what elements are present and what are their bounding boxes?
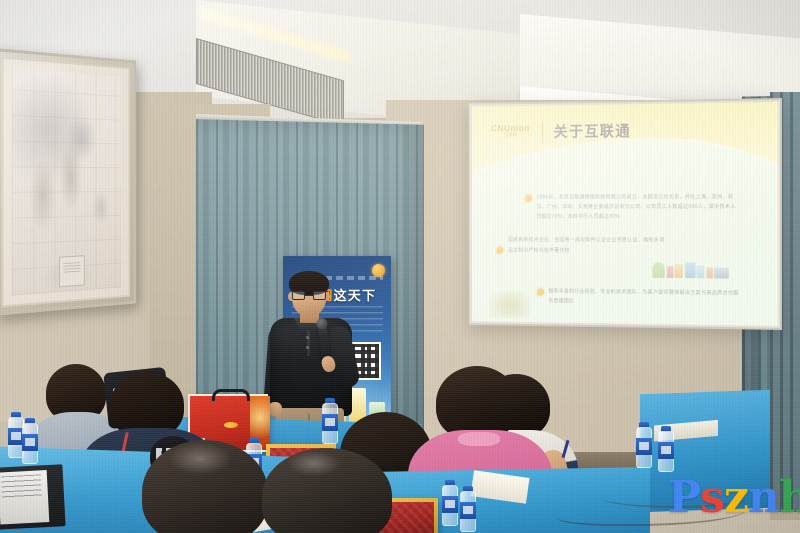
bullet-marker-icon [537,288,543,295]
slide-logo-separator [542,122,543,143]
water-bottle [322,398,338,444]
watermark: Psznh [668,476,800,520]
phone-blue-icon [697,265,705,278]
open-laptop [0,464,66,530]
bullet-marker-icon [525,194,531,201]
glasses-icon [292,291,326,300]
slide-bullet-2-text: 国家高新技术企业、全国第一批双软件认证企业资质认证、拥有多项自主知识产权与软件著… [508,236,666,256]
slide-bullet-1-text: 1999年，北京互联通网络科技有限公司成立，总部设立在北京，并在上海、苏州、武汉… [536,192,740,222]
speaker-placket [307,330,310,356]
watermark-letter-n: n [748,472,779,523]
speaker-button [306,336,309,339]
slide-logo: CNUnion 互联通 [491,124,530,138]
slide-bullet-2: 国家高新技术企业、全国第一批双软件认证企业资质认证、拥有多项自主知识产权与软件著… [497,236,666,256]
watermark-letter-z: z [724,472,748,523]
case-emblem-icon [224,422,238,428]
slide-device-illustrations [653,240,763,278]
speaker-hand-left [268,402,282,416]
framed-world-map [0,48,136,316]
presentation-slide: CNUnion 互联通 关于互联通 1999年，北京互联通网络科技有限公司成立，… [472,102,778,326]
map-mat [2,57,130,308]
bullet-marker-icon [497,247,503,254]
laptop-icon [714,267,729,278]
slide-title: 关于互联通 [554,120,631,141]
watermark-letter-s: s [700,472,724,523]
conference-photo-scene: CNUnion 互联通 关于互联通 1999年，北京互联通网络科技有限公司成立，… [0,0,800,533]
water-bottle [22,418,38,464]
watermark-letter-p: P [668,472,700,523]
water-bottle [442,480,458,526]
water-bottle [658,426,674,472]
audience-member-foreground [262,448,392,533]
speaker-button [306,346,309,349]
water-bottle [460,486,476,532]
slide-bullet-1: 1999年，北京互联通网络科技有限公司成立，总部设立在北京，并在上海、苏州、武汉… [525,192,740,222]
projection-screen: CNUnion 互联通 关于互联通 1999年，北京互联通网络科技有限公司成立，… [468,98,782,330]
device-orange-icon [706,267,713,278]
slide-bullet-3-text: 拥有丰富的行业经验、专业的技术团队，为客户提供整体解决方案与高品质合作服务管理团… [548,287,740,309]
tablet-blue-icon [685,262,696,278]
tree-icon [653,262,665,278]
watermark-letter-h: h [779,472,800,523]
slide-logo-sub: 互联通 [491,133,530,138]
slide-bullet-3: 拥有丰富的行业经验、专业的技术团队，为客户提供整体解决方案与高品质合作服务管理团… [537,287,740,309]
water-bottle [636,422,652,468]
map-title-cartouche [59,255,85,287]
phone-pink-icon [666,266,673,278]
tablet-orange-icon [675,264,684,278]
plant-sketch-graphic [490,290,530,317]
